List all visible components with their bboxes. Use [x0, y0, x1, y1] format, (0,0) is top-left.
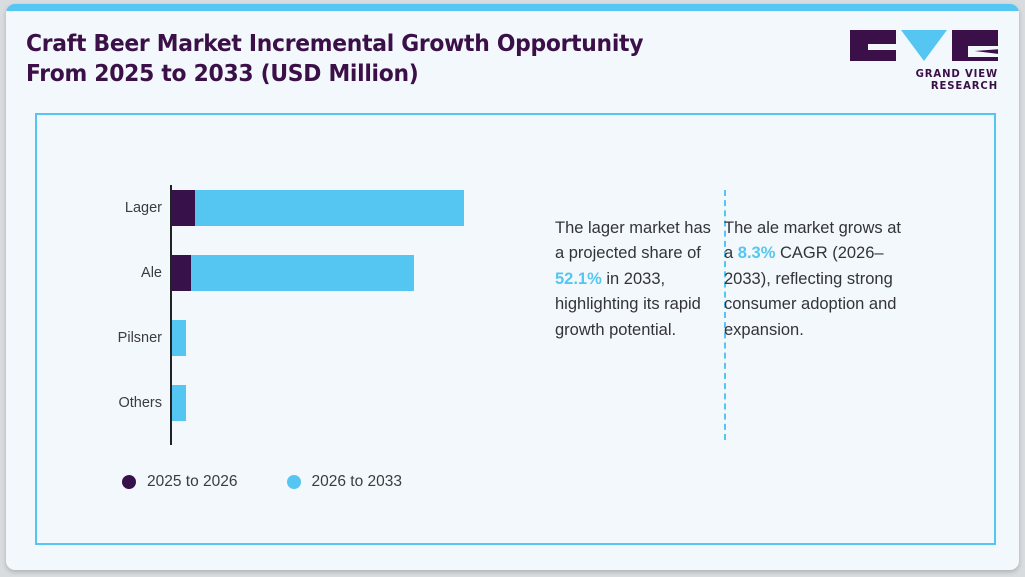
logo-g-icon — [850, 30, 896, 61]
bar-label-lager: Lager — [125, 200, 162, 216]
bar-stack-pilsner — [172, 320, 186, 356]
callout-ale-cagr: The ale market grows at a 8.3% CAGR (202… — [724, 216, 914, 343]
legend-label: 2026 to 2033 — [312, 473, 403, 491]
top-accent-bar — [6, 4, 1019, 11]
callout-highlight-value: 8.3% — [738, 244, 776, 262]
legend-label: 2025 to 2026 — [147, 473, 238, 491]
page-title: Craft Beer Market Incremental Growth Opp… — [26, 28, 677, 88]
chart-row-pilsner: Pilsner — [37, 320, 537, 356]
chart-legend: 2025 to 2026 2026 to 2033 — [122, 473, 402, 491]
callout-lager-share: The lager market has a projected share o… — [555, 216, 715, 343]
bar-label-ale: Ale — [141, 265, 162, 281]
chart-row-ale: Ale — [37, 255, 537, 291]
callout-text-before: The lager market has a projected share o… — [555, 219, 711, 262]
logo-marks — [846, 30, 998, 61]
logo-v-triangle-icon — [901, 30, 947, 61]
bar-label-pilsner: Pilsner — [118, 330, 162, 346]
bar-segment-ale-2026-2033 — [191, 255, 414, 291]
bar-label-others: Others — [118, 395, 162, 411]
bar-stack-ale — [172, 255, 414, 291]
bar-segment-lager-2026-2033 — [195, 190, 464, 226]
infographic-card: Craft Beer Market Incremental Growth Opp… — [6, 4, 1019, 570]
bar-chart: Lager Ale Pilsner Othe — [37, 115, 537, 547]
bar-segment-pilsner-2026-2033 — [172, 320, 186, 356]
logo-r-icon — [952, 30, 998, 61]
callout-highlight-value: 52.1% — [555, 270, 602, 288]
legend-item-2026-2033[interactable]: 2026 to 2033 — [287, 473, 403, 491]
chart-frame: Lager Ale Pilsner Othe — [35, 113, 996, 545]
logo-wordmark: GRAND VIEW RESEARCH — [852, 68, 998, 92]
legend-dot-icon — [287, 475, 301, 489]
bar-segment-others-2026-2033 — [172, 385, 186, 421]
brand-logo: GRAND VIEW RESEARCH — [846, 30, 998, 92]
chart-row-lager: Lager — [37, 190, 537, 226]
bar-segment-ale-2025-2026 — [172, 255, 191, 291]
bar-stack-others — [172, 385, 186, 421]
legend-dot-icon — [122, 475, 136, 489]
bar-stack-lager — [172, 190, 464, 226]
chart-row-others: Others — [37, 385, 537, 421]
bar-segment-lager-2025-2026 — [172, 190, 195, 226]
legend-item-2025-2026[interactable]: 2025 to 2026 — [122, 473, 238, 491]
